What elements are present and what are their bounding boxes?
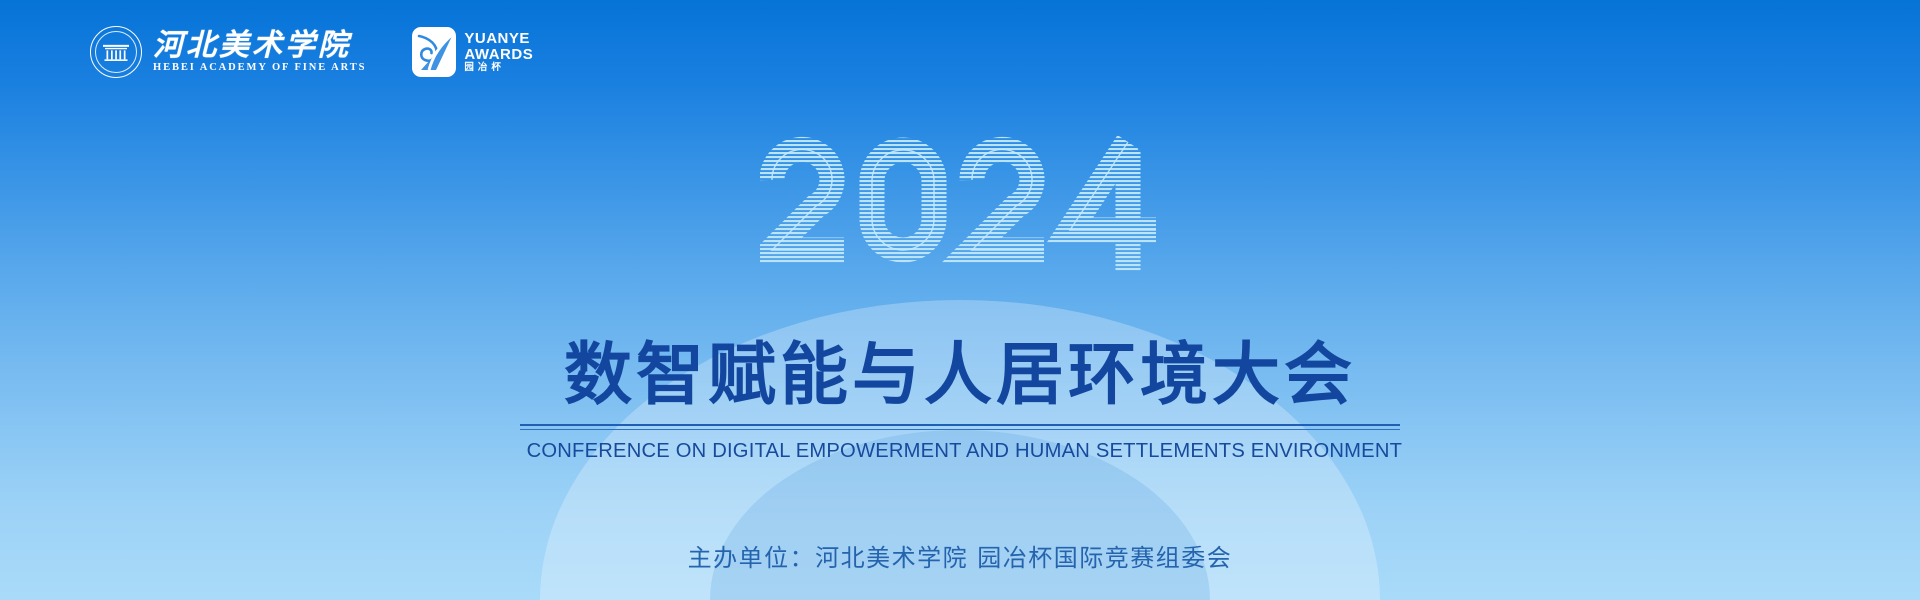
logo-hebei-academy-of-fine-arts[interactable]: 河北美术学院 HEBEI ACADEMY OF FINE ARTS [90, 26, 366, 78]
title-block: 数智赋能与人居环境大会 CONFERENCE ON DIGITAL EMPOWE… [520, 342, 1400, 463]
yuanye-line2: AWARDS [464, 47, 533, 62]
yuanye-line3-cn: 园冶杯 [464, 63, 533, 73]
conference-subtitle-en: CONFERENCE ON DIGITAL EMPOWERMENT AND HU… [527, 439, 1394, 463]
hbafa-name-cn: 河北美术学院 [153, 31, 366, 61]
title-divider-top [520, 424, 1400, 426]
yuanye-mark-glyph-icon [412, 27, 456, 77]
hbafa-name-en: HEBEI ACADEMY OF FINE ARTS [153, 63, 366, 74]
gate-glyph-icon [103, 43, 129, 61]
year-2024-graphic [760, 132, 1160, 280]
yuanye-line1: YUANYE [464, 31, 533, 46]
yuanye-leaf-mark-icon [412, 27, 456, 77]
circular-seal-gate-icon [90, 26, 142, 78]
conference-banner: 河北美术学院 HEBEI ACADEMY OF FINE ARTS YUANYE… [0, 0, 1920, 600]
conference-title-cn: 数智赋能与人居环境大会 [520, 342, 1400, 410]
title-divider-bottom [520, 429, 1400, 430]
year-2024-svg [760, 132, 1160, 280]
organizer-line: 主办单位：河北美术学院 园冶杯国际竞赛组委会 [688, 538, 1233, 573]
logo-yuanye-awards[interactable]: YUANYE AWARDS 园冶杯 [412, 27, 533, 77]
logo-row: 河北美术学院 HEBEI ACADEMY OF FINE ARTS YUANYE… [90, 26, 533, 78]
